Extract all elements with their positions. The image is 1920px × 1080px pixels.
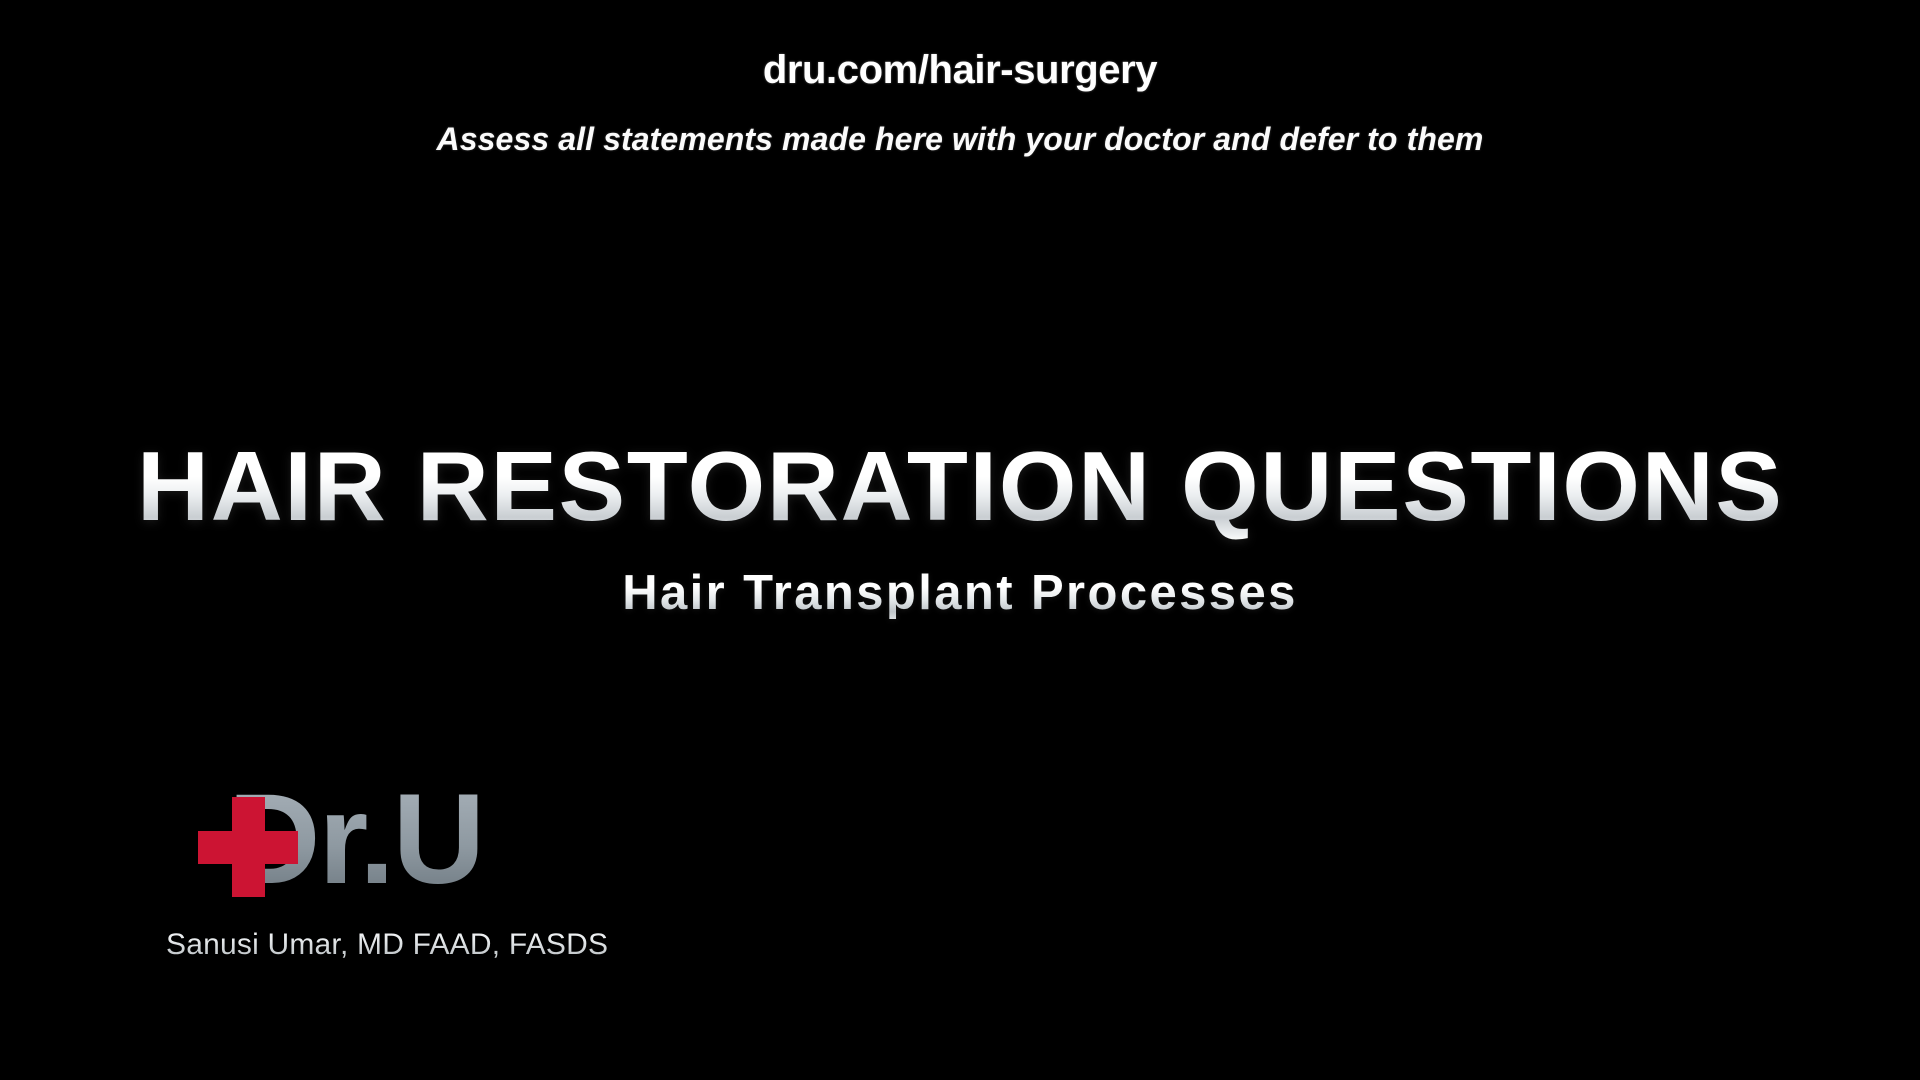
site-url-text: dru.com/hair-surgery	[0, 46, 1920, 94]
page-subtitle: Hair Transplant Processes	[0, 564, 1920, 622]
medical-cross-icon	[198, 797, 298, 897]
page-title: HAIR RESTORATION QUESTIONS	[137, 430, 1784, 542]
header-block: dru.com/hair-surgery Assess all statemen…	[0, 46, 1920, 159]
title-block: HAIR RESTORATION QUESTIONS Hair Transpla…	[0, 430, 1920, 622]
brand-lockup: Dr.U Sanusi Umar, MD FAAD, FASDS	[198, 775, 718, 990]
dru-logo: Dr.U	[198, 775, 568, 905]
medical-cross-horizontal-bar	[198, 831, 298, 864]
video-title-card: dru.com/hair-surgery Assess all statemen…	[0, 0, 1920, 1080]
disclaimer-text: Assess all statements made here with you…	[0, 119, 1920, 159]
doctor-credentials-text: Sanusi Umar, MD FAAD, FASDS	[166, 927, 608, 963]
